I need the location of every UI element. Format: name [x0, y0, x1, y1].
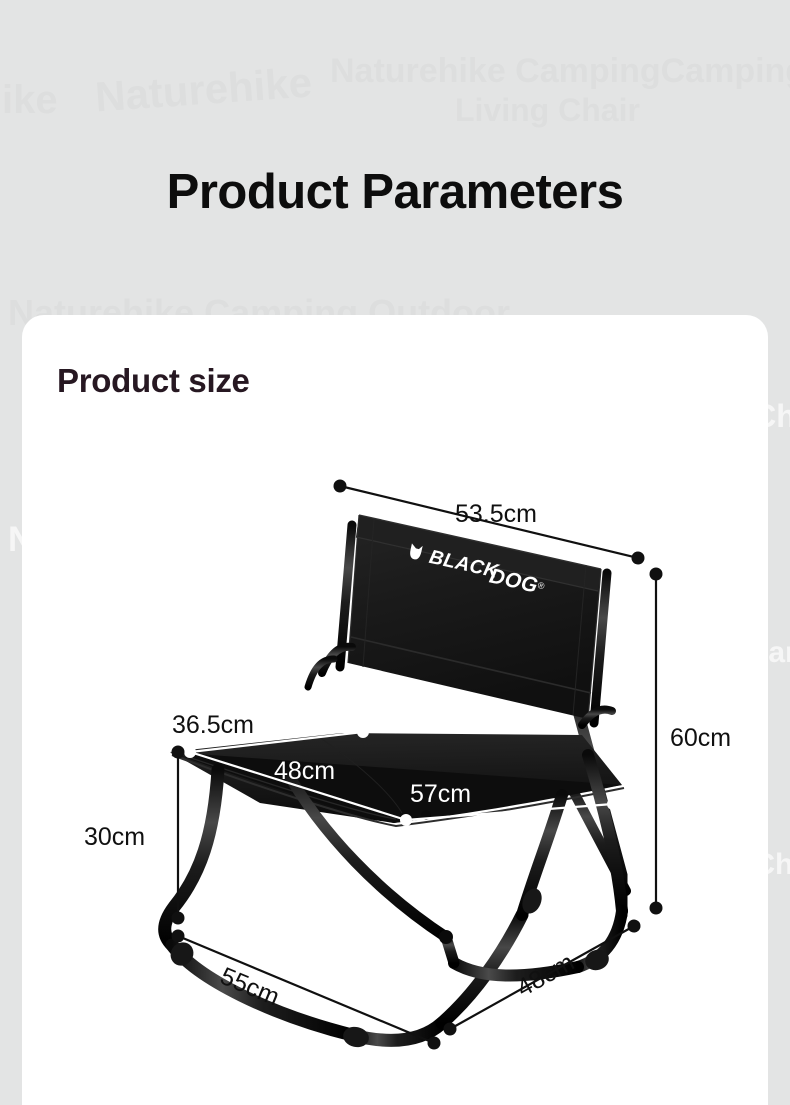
dimension-label-57cm: 57cm: [410, 780, 471, 809]
dimension-line-55cm: [172, 930, 441, 1050]
dimension-line-60cm: [650, 568, 663, 915]
watermark-text: Naturehike: [94, 58, 314, 121]
product-size-card: Product size: [22, 315, 768, 1105]
dimension-label-30cm: 30cm: [84, 823, 145, 852]
watermark-text: ike: [2, 78, 58, 123]
card-title: Product size: [57, 362, 250, 400]
watermark-text: Naturehike CampingCampingCamping: [330, 52, 790, 91]
backrest-fabric: [348, 515, 601, 719]
dimension-label-53-5cm: 53.5cm: [455, 500, 537, 529]
dimension-label-36-5cm: 36.5cm: [172, 711, 254, 740]
watermark-text: Living Chair: [455, 92, 640, 129]
dimension-label-60cm: 60cm: [670, 724, 731, 753]
product-dimension-diagram: BLACK DOG ®: [22, 315, 768, 1105]
dimension-label-48cm-seat: 48cm: [274, 757, 335, 786]
page-title: Product Parameters: [0, 164, 790, 220]
chair-illustration: BLACK DOG ®: [22, 315, 768, 1105]
